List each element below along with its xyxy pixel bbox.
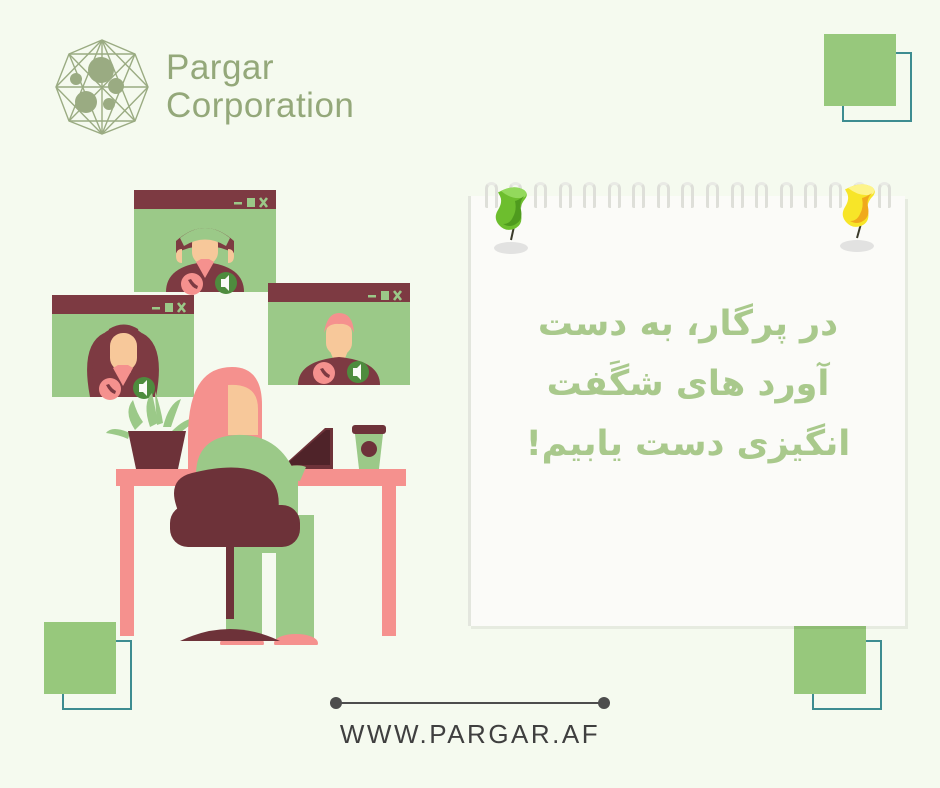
footer: WWW.PARGAR.AF xyxy=(0,697,940,750)
green-pushpin-icon xyxy=(485,182,537,258)
solid-square xyxy=(794,622,866,694)
website-url[interactable]: WWW.PARGAR.AF xyxy=(0,719,940,750)
potted-plant xyxy=(106,391,200,469)
spiral-ring xyxy=(632,182,645,208)
spiral-ring xyxy=(657,182,670,208)
footer-divider xyxy=(330,697,610,709)
video-window-right xyxy=(268,283,410,385)
network-polygon-icon xyxy=(52,34,152,140)
brand-logo: Pargar Corporation xyxy=(52,34,354,140)
coffee-cup xyxy=(352,425,386,469)
solid-square xyxy=(824,34,896,106)
laptop xyxy=(283,428,333,469)
notepad-message: در پرگار، به دست آورد های شگَفت انگیزی د… xyxy=(499,294,877,475)
brand-name: Pargar Corporation xyxy=(166,49,354,125)
spiral-ring xyxy=(780,182,793,208)
corner-decoration-top-right xyxy=(824,34,924,134)
video-window-left xyxy=(52,295,194,400)
spiral-ring xyxy=(804,182,817,208)
spiral-ring xyxy=(731,182,744,208)
spiral-ring xyxy=(706,182,719,208)
yellow-pushpin-icon xyxy=(833,180,885,256)
poster-canvas: Pargar Corporation xyxy=(0,0,940,788)
divider-dot-right xyxy=(598,697,610,709)
remote-video-conference-illustration xyxy=(30,175,450,645)
spiral-ring xyxy=(755,182,768,208)
notepad: در پرگار، به دست آورد های شگَفت انگیزی د… xyxy=(468,196,905,626)
video-window-top xyxy=(134,190,276,295)
spiral-ring xyxy=(681,182,694,208)
divider-bar xyxy=(336,702,604,704)
spiral-ring xyxy=(559,182,572,208)
seated-person xyxy=(170,367,318,645)
spiral-ring xyxy=(608,182,621,208)
spiral-ring xyxy=(583,182,596,208)
